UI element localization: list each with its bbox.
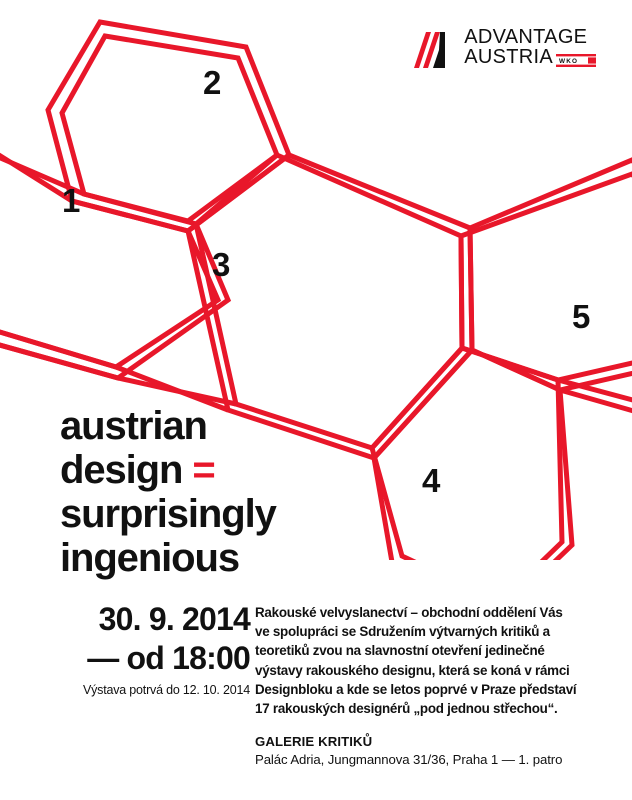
- event-date: 30. 9. 2014: [60, 600, 250, 639]
- hex-cell-4-outer: [374, 350, 572, 560]
- advantage-austria-logo: ADVANTAGE AUSTRIA WKO: [414, 26, 596, 68]
- headline-line-4: ingenious: [60, 536, 380, 580]
- hex-number-5: 5: [572, 300, 590, 333]
- logo-line-advantage: ADVANTAGE: [464, 27, 596, 47]
- poster-canvas: 1 2 3 4 5 ADVANTAGE AUSTRIA WKO: [0, 0, 632, 800]
- headline: austrian design = surprisingly ingenious: [60, 404, 380, 580]
- logo-line-austria: AUSTRIA: [464, 47, 553, 67]
- invitation-text: Rakouské velvyslanectví – obchodní odděl…: [255, 603, 600, 718]
- hex-cell-2-inner: [62, 36, 277, 221]
- invitation-text-line: Rakouské velvyslanectví – obchodní odděl…: [255, 603, 600, 622]
- event-time: — od 18:00: [60, 639, 250, 678]
- headline-line-2-text: design: [60, 448, 192, 492]
- invitation-text-line: ve spolupráci se Sdružením výtvarných kr…: [255, 622, 600, 641]
- invitation-text-line: teoretiků zvou na slavnostní otevření je…: [255, 641, 600, 660]
- hex-number-3: 3: [212, 248, 230, 281]
- headline-line-2: design =: [60, 448, 380, 492]
- headline-line-3: surprisingly: [60, 492, 380, 536]
- hex-cell-right-top-inner: [461, 174, 632, 380]
- venue-block: GALERIE KRITIKŮ Palác Adria, Jungmannova…: [255, 733, 600, 769]
- invitation-text-line: 17 rakouských designérů „pod jednou stře…: [255, 699, 600, 718]
- invitation-text-line: Designbloku a kde se letos poprvé v Praz…: [255, 680, 600, 699]
- logo-wordmark: ADVANTAGE AUSTRIA WKO: [464, 27, 596, 67]
- hex-number-2: 2: [203, 66, 221, 99]
- venue-name: GALERIE KRITIKŮ: [255, 733, 600, 751]
- advantage-austria-m-mark-icon: [414, 26, 456, 68]
- invitation-text-line: výstavy rakouského designu, která se kon…: [255, 661, 600, 680]
- hex-number-4: 4: [422, 464, 440, 497]
- event-date-block: 30. 9. 2014 — od 18:00 Výstava potrvá do…: [60, 600, 250, 698]
- hex-cell-right-top-outer: [470, 160, 632, 390]
- wko-badge-icon: WKO: [556, 54, 596, 67]
- hex-number-1: 1: [62, 184, 80, 217]
- exhibition-duration-note: Výstava potrvá do 12. 10. 2014: [60, 682, 250, 698]
- venue-address: Palác Adria, Jungmannova 31/36, Praha 1 …: [255, 751, 600, 769]
- headline-line-1: austrian: [60, 404, 380, 448]
- svg-text:WKO: WKO: [559, 58, 578, 65]
- logo-line-austria-row: AUSTRIA WKO: [464, 47, 596, 67]
- hex-cell-2-outer: [48, 22, 289, 231]
- headline-equals-sign: =: [192, 448, 214, 492]
